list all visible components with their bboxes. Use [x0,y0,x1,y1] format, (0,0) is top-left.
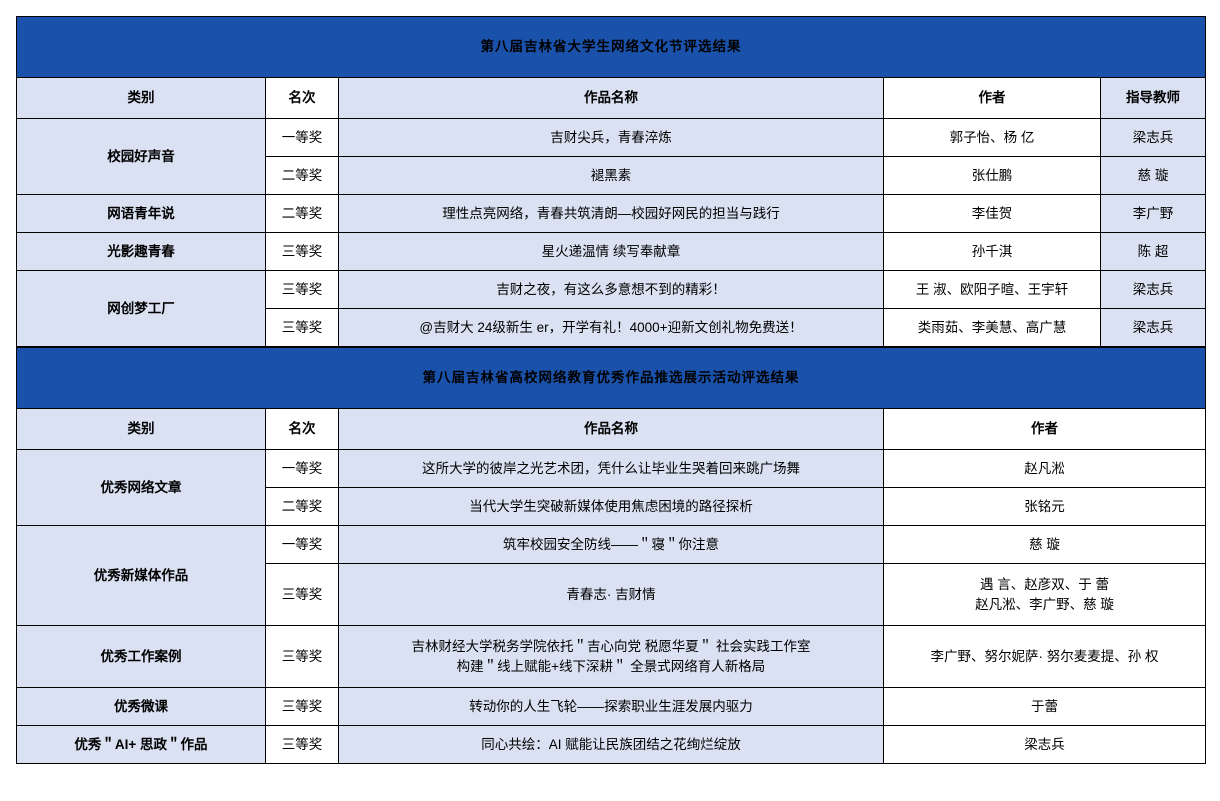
author-cell: 李佳贺 [884,195,1101,233]
work-cell: 这所大学的彼岸之光艺术团，凭什么让毕业生哭着回来跳广场舞 [339,450,884,488]
rank-cell: 二等奖 [266,488,339,526]
category-cell: 优秀网络文章 [17,450,266,526]
author-cell: 遇 言、赵彦双、于 蕾赵凡淞、李广野、慈 璇 [884,564,1206,626]
rank-cell: 二等奖 [266,157,339,195]
rank-cell: 三等奖 [266,233,339,271]
work-cell: 同心共绘：AI 赋能让民族团结之花绚烂绽放 [339,726,884,764]
table-row: 优秀＂AI+ 思政＂作品 三等奖 同心共绘：AI 赋能让民族团结之花绚烂绽放 梁… [17,726,1206,764]
author-cell: 张铭元 [884,488,1206,526]
rank-cell: 三等奖 [266,271,339,309]
category-cell: 优秀新媒体作品 [17,526,266,626]
rank-cell: 三等奖 [266,626,339,688]
author-cell: 于蕾 [884,688,1206,726]
work-cell: 吉财之夜，有这么多意想不到的精彩！ [339,271,884,309]
table-2-banner-title: 第八届吉林省高校网络教育优秀作品推选展示活动评选结果 [17,348,1206,409]
work-cell: @吉财大 24级新生 er，开学有礼！4000+迎新文创礼物免费送！ [339,309,884,347]
advisor-cell: 梁志兵 [1101,271,1206,309]
work-cell: 吉财尖兵，青春淬炼 [339,119,884,157]
rank-cell: 一等奖 [266,450,339,488]
advisor-cell: 陈 超 [1101,233,1206,271]
work-cell: 褪黑素 [339,157,884,195]
header-work-title: 作品名称 [339,409,884,450]
author-cell: 张仕鹏 [884,157,1101,195]
table-1-banner-title: 第八届吉林省大学生网络文化节评选结果 [17,17,1206,78]
work-cell: 当代大学生突破新媒体使用焦虑困境的路径探析 [339,488,884,526]
rank-cell: 一等奖 [266,119,339,157]
advisor-cell: 梁志兵 [1101,309,1206,347]
category-cell: 优秀＂AI+ 思政＂作品 [17,726,266,764]
header-author: 作者 [884,409,1206,450]
table-row: 网创梦工厂 三等奖 吉财之夜，有这么多意想不到的精彩！ 王 淑、欧阳子暄、王宇轩… [17,271,1206,309]
work-cell: 理性点亮网络，青春共筑清朗—校园好网民的担当与践行 [339,195,884,233]
author-cell: 梁志兵 [884,726,1206,764]
advisor-cell: 梁志兵 [1101,119,1206,157]
advisor-cell: 慈 璇 [1101,157,1206,195]
banner-row: 第八届吉林省大学生网络文化节评选结果 [17,17,1206,78]
table-row: 校园好声音 一等奖 吉财尖兵，青春淬炼 郭子怡、杨 亿 梁志兵 [17,119,1206,157]
table-cultural-festival: 第八届吉林省大学生网络文化节评选结果 类别 名次 作品名称 作者 指导教师 校园… [16,16,1206,347]
work-cell: 吉林财经大学税务学院依托＂吉心向党 税愿华夏＂ 社会实践工作室构建＂线上赋能+线… [339,626,884,688]
work-cell: 转动你的人生飞轮——探索职业生涯发展内驱力 [339,688,884,726]
category-cell: 网语青年说 [17,195,266,233]
header-rank: 名次 [266,78,339,119]
header-work-title: 作品名称 [339,78,884,119]
advisor-cell: 李广野 [1101,195,1206,233]
author-cell: 孙千淇 [884,233,1101,271]
header-author: 作者 [884,78,1101,119]
header-advisor: 指导教师 [1101,78,1206,119]
category-cell: 优秀工作案例 [17,626,266,688]
table-row: 优秀网络文章 一等奖 这所大学的彼岸之光艺术团，凭什么让毕业生哭着回来跳广场舞 … [17,450,1206,488]
rank-cell: 三等奖 [266,726,339,764]
banner-row: 第八届吉林省高校网络教育优秀作品推选展示活动评选结果 [17,348,1206,409]
work-cell: 青春志· 吉财情 [339,564,884,626]
author-cell: 王 淑、欧阳子暄、王宇轩 [884,271,1101,309]
header-row: 类别 名次 作品名称 作者 指导教师 [17,78,1206,119]
header-category: 类别 [17,409,266,450]
author-cell: 慈 璇 [884,526,1206,564]
category-cell: 校园好声音 [17,119,266,195]
author-cell: 郭子怡、杨 亿 [884,119,1101,157]
work-cell: 筑牢校园安全防线——＂寝＂你注意 [339,526,884,564]
category-cell: 光影趣青春 [17,233,266,271]
rank-cell: 三等奖 [266,564,339,626]
header-category: 类别 [17,78,266,119]
rank-cell: 三等奖 [266,309,339,347]
table-row: 优秀微课 三等奖 转动你的人生飞轮——探索职业生涯发展内驱力 于蕾 [17,688,1206,726]
results-sheet: 第八届吉林省大学生网络文化节评选结果 类别 名次 作品名称 作者 指导教师 校园… [16,16,1205,764]
category-cell: 网创梦工厂 [17,271,266,347]
author-cell: 李广野、努尔妮萨· 努尔麦麦提、孙 权 [884,626,1206,688]
table-row: 网语青年说 二等奖 理性点亮网络，青春共筑清朗—校园好网民的担当与践行 李佳贺 … [17,195,1206,233]
table-row: 优秀新媒体作品 一等奖 筑牢校园安全防线——＂寝＂你注意 慈 璇 [17,526,1206,564]
rank-cell: 一等奖 [266,526,339,564]
table-online-education: 第八届吉林省高校网络教育优秀作品推选展示活动评选结果 类别 名次 作品名称 作者… [16,347,1206,764]
category-cell: 优秀微课 [17,688,266,726]
work-cell: 星火递温情 续写奉献章 [339,233,884,271]
table-row: 优秀工作案例 三等奖 吉林财经大学税务学院依托＂吉心向党 税愿华夏＂ 社会实践工… [17,626,1206,688]
header-rank: 名次 [266,409,339,450]
author-cell: 类雨茹、李美慧、高广慧 [884,309,1101,347]
rank-cell: 三等奖 [266,688,339,726]
rank-cell: 二等奖 [266,195,339,233]
header-row: 类别 名次 作品名称 作者 [17,409,1206,450]
author-cell: 赵凡淞 [884,450,1206,488]
table-row: 光影趣青春 三等奖 星火递温情 续写奉献章 孙千淇 陈 超 [17,233,1206,271]
